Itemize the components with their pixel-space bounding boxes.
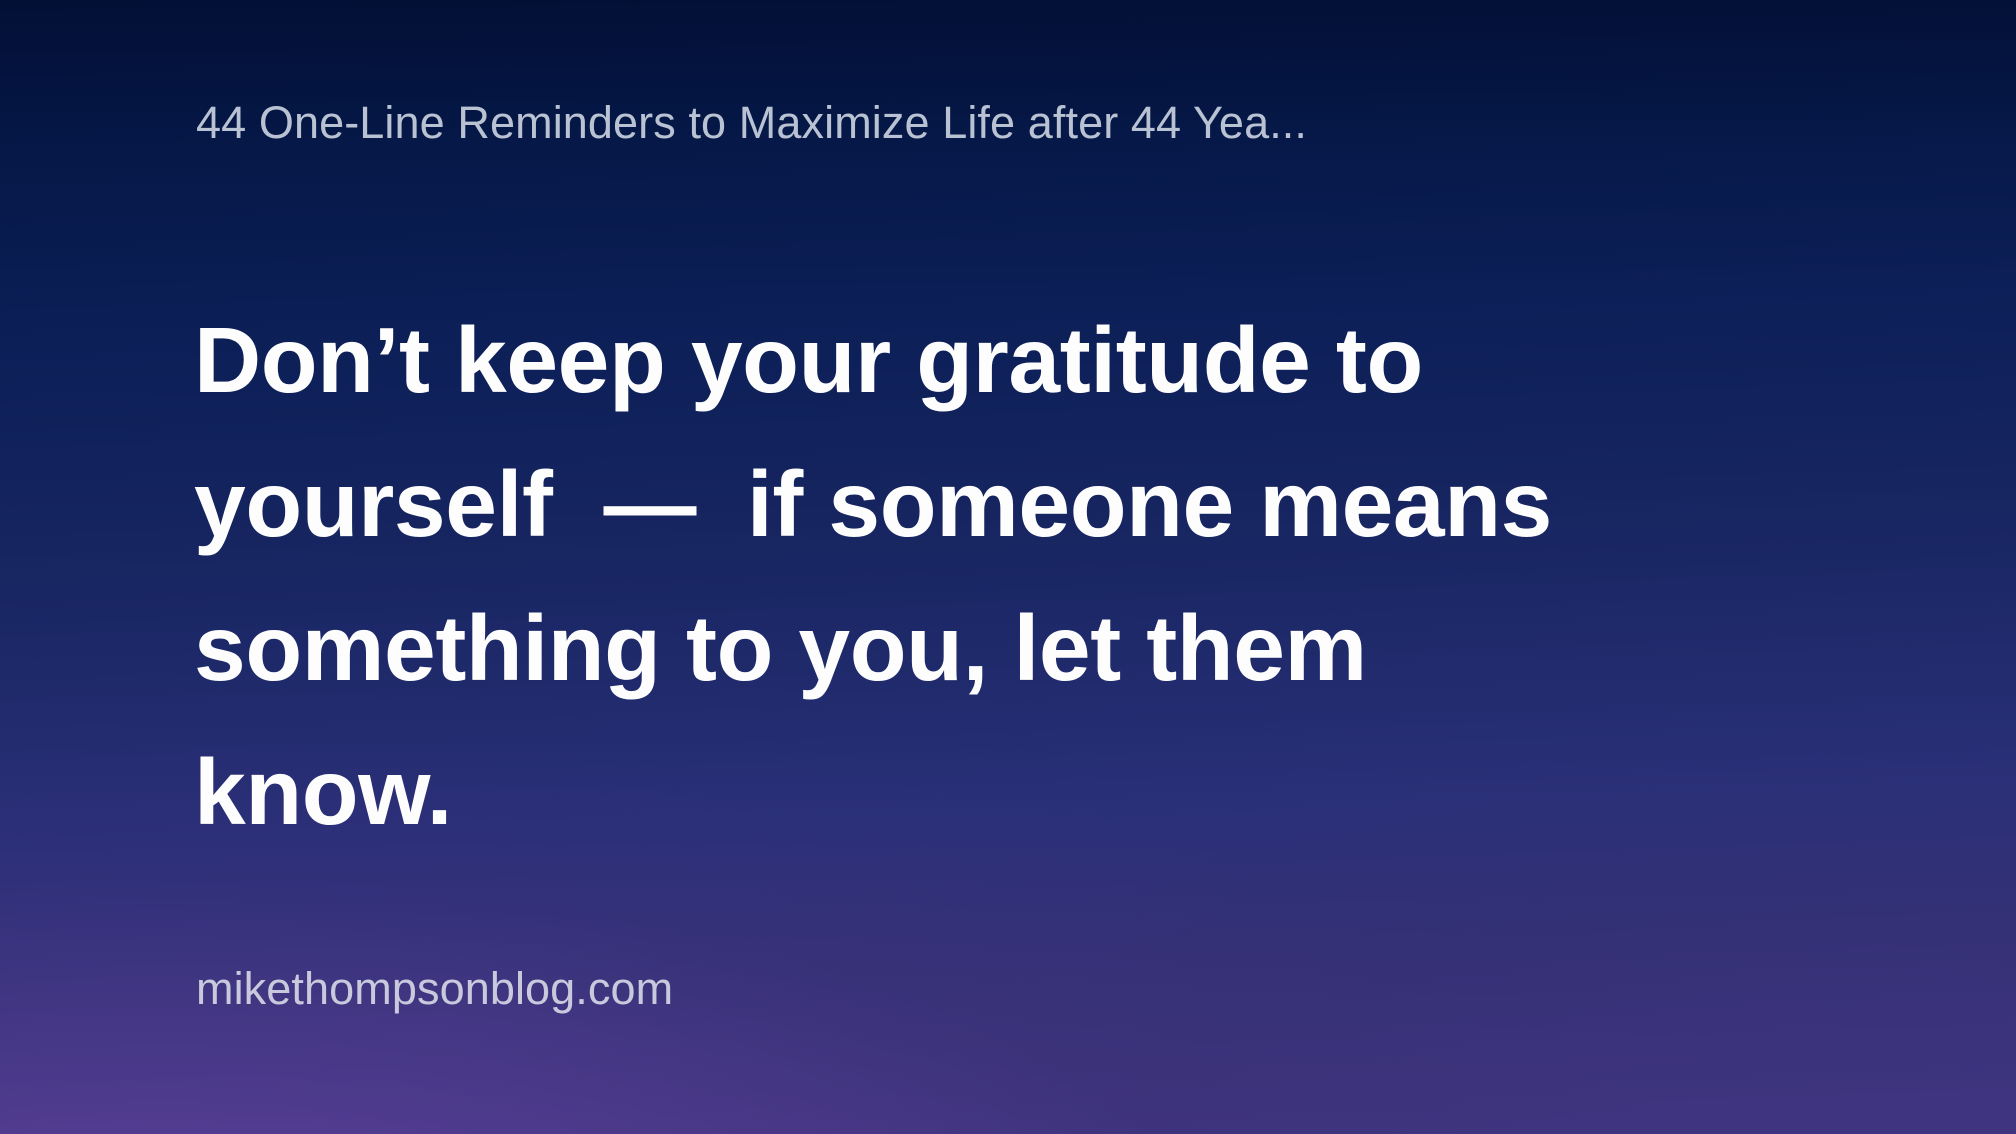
site-url: mikethompsonblog.com [196, 963, 673, 1015]
quote-line: yourself — if someone means [194, 432, 1874, 576]
quote-line: something to you, let them [194, 576, 1874, 720]
quote-line: Don’t keep your gratitude to [194, 288, 1874, 432]
quote-text: Don’t keep your gratitude to yourself — … [194, 288, 1874, 864]
quote-card: 44 One-Line Reminders to Maximize Life a… [0, 0, 2016, 1134]
article-title: 44 One-Line Reminders to Maximize Life a… [196, 97, 1956, 149]
quote-line: know. [194, 720, 1874, 864]
